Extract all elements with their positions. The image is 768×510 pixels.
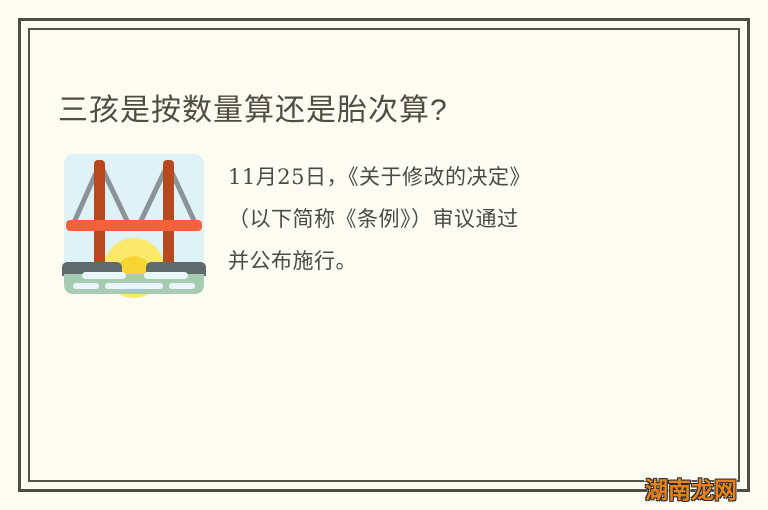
article-body-line: 并公布施行。 [228, 249, 357, 273]
article-body-line: （以下简称《条例》）审议通过 [228, 207, 519, 231]
article-body-text: 11月25日，《关于修改的决定》 （以下简称《条例》）审议通过 并公布施行。 [228, 156, 648, 282]
site-watermark: 湖南龙网 [645, 478, 737, 504]
page-root: 三孩是按数量算还是胎次算? [0, 0, 768, 510]
page-title: 三孩是按数量算还是胎次算? [58, 92, 698, 130]
article-content: 三孩是按数量算还是胎次算? [28, 28, 740, 482]
bridge-sunset-icon [60, 150, 208, 298]
article-body-line: 11月25日，《关于修改的决定》 [228, 165, 531, 189]
